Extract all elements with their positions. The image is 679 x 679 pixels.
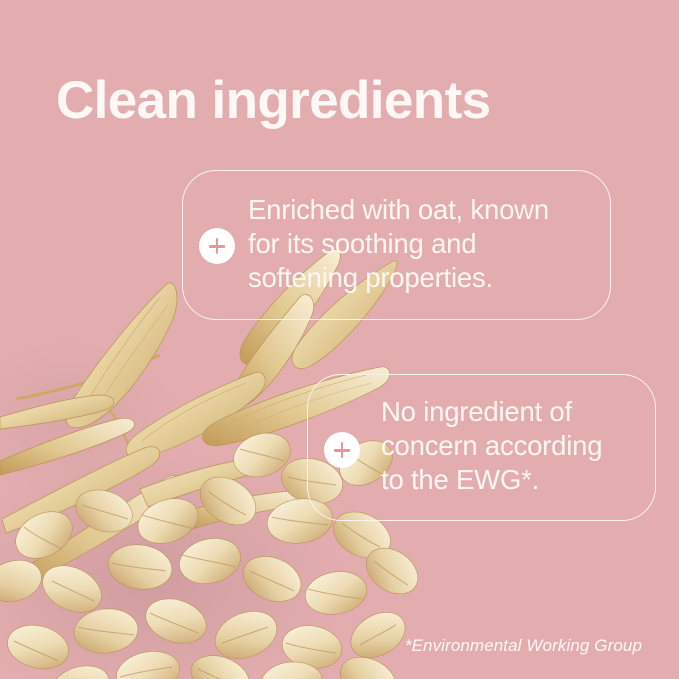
plus-icon (199, 228, 235, 264)
feature-card-oat-text: Enriched with oat, known for its soothin… (248, 193, 549, 295)
page-title: Clean ingredients (56, 69, 491, 133)
plus-icon-vertical-bar (341, 442, 344, 458)
product-feature-panel: Clean ingredients Enriched with oat, kno… (0, 0, 679, 679)
plus-icon (324, 432, 360, 468)
feature-card-ewg-text: No ingredient of concern according to th… (381, 395, 602, 497)
footnote: *Environmental Working Group (405, 636, 642, 656)
feature-card-oat: Enriched with oat, known for its soothin… (182, 170, 611, 320)
plus-icon-vertical-bar (216, 238, 219, 254)
